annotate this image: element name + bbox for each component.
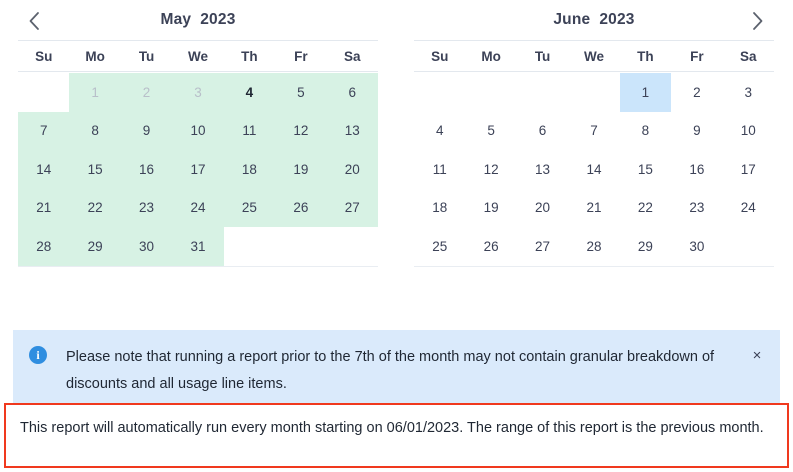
calendar-day-14[interactable]: 14 — [18, 150, 69, 189]
weekday-su: Su — [414, 41, 465, 71]
calendar-day-5[interactable]: 5 — [275, 73, 326, 112]
weekday-su: Su — [18, 41, 69, 71]
calendar-day-29[interactable]: 29 — [620, 227, 671, 266]
calendar-day-17[interactable]: 17 — [172, 150, 223, 189]
calendar-day-10[interactable]: 10 — [723, 112, 774, 151]
calendar-header-left: May 2023 — [0, 0, 396, 40]
calendar-day-15[interactable]: 15 — [620, 150, 671, 189]
calendar-week-row: 78910111213 — [18, 112, 378, 151]
date-range-picker[interactable]: May 2023 Su Mo Tu We Th Fr Sa 1234567891… — [0, 0, 793, 267]
close-icon[interactable]: × — [748, 346, 766, 364]
calendar-day-4[interactable]: 4 — [224, 73, 275, 112]
calendar-day-3[interactable]: 3 — [172, 73, 223, 112]
calendar-day-20[interactable]: 20 — [517, 189, 568, 228]
calendar-day-22[interactable]: 22 — [620, 189, 671, 228]
weekday-header-right: Su Mo Tu We Th Fr Sa — [414, 40, 774, 72]
calendar-day-13[interactable]: 13 — [327, 112, 378, 151]
calendar-day-8[interactable]: 8 — [69, 112, 120, 151]
calendar-day-4[interactable]: 4 — [414, 112, 465, 151]
month-title-left: May 2023 — [160, 11, 235, 29]
calendar-day-empty — [465, 73, 516, 112]
calendar-day-30[interactable]: 30 — [121, 227, 172, 266]
calendar-day-25[interactable]: 25 — [414, 227, 465, 266]
calendar-day-25[interactable]: 25 — [224, 189, 275, 228]
weekday-mo: Mo — [465, 41, 516, 71]
calendar-day-26[interactable]: 26 — [275, 189, 326, 228]
calendar-day-empty — [275, 227, 326, 266]
calendar-day-16[interactable]: 16 — [121, 150, 172, 189]
calendar-day-empty — [414, 73, 465, 112]
weekday-mo: Mo — [69, 41, 120, 71]
calendar-grid-right: 1234567891011121314151617181920212223242… — [414, 72, 774, 266]
calendar-week-row: 11121314151617 — [414, 150, 774, 189]
calendar-day-9[interactable]: 9 — [121, 112, 172, 151]
calendar-day-22[interactable]: 22 — [69, 189, 120, 228]
calendar-day-12[interactable]: 12 — [275, 112, 326, 151]
weekday-we: We — [568, 41, 619, 71]
calendar-day-5[interactable]: 5 — [465, 112, 516, 151]
weekday-th: Th — [620, 41, 671, 71]
calendar-day-23[interactable]: 23 — [671, 189, 722, 228]
calendar-day-2[interactable]: 2 — [671, 73, 722, 112]
weekday-we: We — [172, 41, 223, 71]
calendar-week-row: 123456 — [18, 73, 378, 112]
calendar-day-28[interactable]: 28 — [568, 227, 619, 266]
calendar-day-6[interactable]: 6 — [517, 112, 568, 151]
calendar-day-7[interactable]: 7 — [568, 112, 619, 151]
weekday-header-left: Su Mo Tu We Th Fr Sa — [18, 40, 378, 72]
calendar-week-row: 21222324252627 — [18, 189, 378, 228]
calendar-day-9[interactable]: 9 — [671, 112, 722, 151]
calendar-day-2[interactable]: 2 — [121, 73, 172, 112]
calendar-day-11[interactable]: 11 — [414, 150, 465, 189]
calendar-day-20[interactable]: 20 — [327, 150, 378, 189]
calendar-day-31[interactable]: 31 — [172, 227, 223, 266]
calendar-week-row: 123 — [414, 73, 774, 112]
calendar-day-1[interactable]: 1 — [620, 73, 671, 112]
weekday-tu: Tu — [517, 41, 568, 71]
calendar-day-1[interactable]: 1 — [69, 73, 120, 112]
calendar-day-15[interactable]: 15 — [69, 150, 120, 189]
calendar-day-23[interactable]: 23 — [121, 189, 172, 228]
calendar-day-27[interactable]: 27 — [327, 189, 378, 228]
calendar-grid-rule-left — [18, 266, 378, 267]
calendar-day-17[interactable]: 17 — [723, 150, 774, 189]
calendar-day-28[interactable]: 28 — [18, 227, 69, 266]
calendar-day-21[interactable]: 21 — [568, 189, 619, 228]
info-banner-message: Please note that running a report prior … — [47, 344, 748, 398]
calendar-day-7[interactable]: 7 — [18, 112, 69, 151]
weekday-fr: Fr — [671, 41, 722, 71]
month-title-right: June 2023 — [553, 11, 634, 29]
calendar-day-empty — [568, 73, 619, 112]
chevron-left-icon[interactable] — [19, 6, 49, 36]
calendar-day-empty — [517, 73, 568, 112]
calendar-day-29[interactable]: 29 — [69, 227, 120, 266]
schedule-notice-message: This report will automatically run every… — [20, 420, 764, 436]
calendar-day-16[interactable]: 16 — [671, 150, 722, 189]
calendar-day-11[interactable]: 11 — [224, 112, 275, 151]
calendar-month-left: May 2023 Su Mo Tu We Th Fr Sa 1234567891… — [0, 0, 396, 267]
info-banner: i Please note that running a report prio… — [13, 330, 780, 412]
calendar-day-12[interactable]: 12 — [465, 150, 516, 189]
weekday-th: Th — [224, 41, 275, 71]
calendar-grid-rule-right — [414, 266, 774, 267]
calendar-day-empty — [224, 227, 275, 266]
calendar-week-row: 45678910 — [414, 112, 774, 151]
calendar-day-19[interactable]: 19 — [275, 150, 326, 189]
calendar-day-10[interactable]: 10 — [172, 112, 223, 151]
calendar-day-13[interactable]: 13 — [517, 150, 568, 189]
calendar-day-18[interactable]: 18 — [414, 189, 465, 228]
calendar-day-19[interactable]: 19 — [465, 189, 516, 228]
calendar-month-right: June 2023 Su Mo Tu We Th Fr Sa 123456789… — [396, 0, 792, 267]
calendar-week-row: 28293031 — [18, 227, 378, 266]
weekday-fr: Fr — [275, 41, 326, 71]
weekday-sa: Sa — [723, 41, 774, 71]
calendar-day-empty — [327, 227, 378, 266]
calendar-day-3[interactable]: 3 — [723, 73, 774, 112]
calendar-week-row: 14151617181920 — [18, 150, 378, 189]
calendar-day-24[interactable]: 24 — [172, 189, 223, 228]
calendar-day-6[interactable]: 6 — [327, 73, 378, 112]
calendar-day-14[interactable]: 14 — [568, 150, 619, 189]
info-circle-icon: i — [29, 346, 47, 364]
calendar-day-empty — [18, 73, 69, 112]
calendar-week-row: 252627282930 — [414, 227, 774, 266]
calendar-day-27[interactable]: 27 — [517, 227, 568, 266]
calendar-day-21[interactable]: 21 — [18, 189, 69, 228]
calendar-day-24[interactable]: 24 — [723, 189, 774, 228]
calendar-grid-left: 1234567891011121314151617181920212223242… — [18, 72, 378, 266]
calendar-day-empty — [723, 227, 774, 266]
schedule-notice-box: This report will automatically run every… — [4, 403, 789, 468]
calendar-day-26[interactable]: 26 — [465, 227, 516, 266]
calendar-header-right: June 2023 — [396, 0, 792, 40]
weekday-tu: Tu — [121, 41, 172, 71]
calendar-day-18[interactable]: 18 — [224, 150, 275, 189]
chevron-right-icon[interactable] — [743, 6, 773, 36]
calendar-week-row: 18192021222324 — [414, 189, 774, 228]
calendar-day-8[interactable]: 8 — [620, 112, 671, 151]
calendar-day-30[interactable]: 30 — [671, 227, 722, 266]
weekday-sa: Sa — [327, 41, 378, 71]
